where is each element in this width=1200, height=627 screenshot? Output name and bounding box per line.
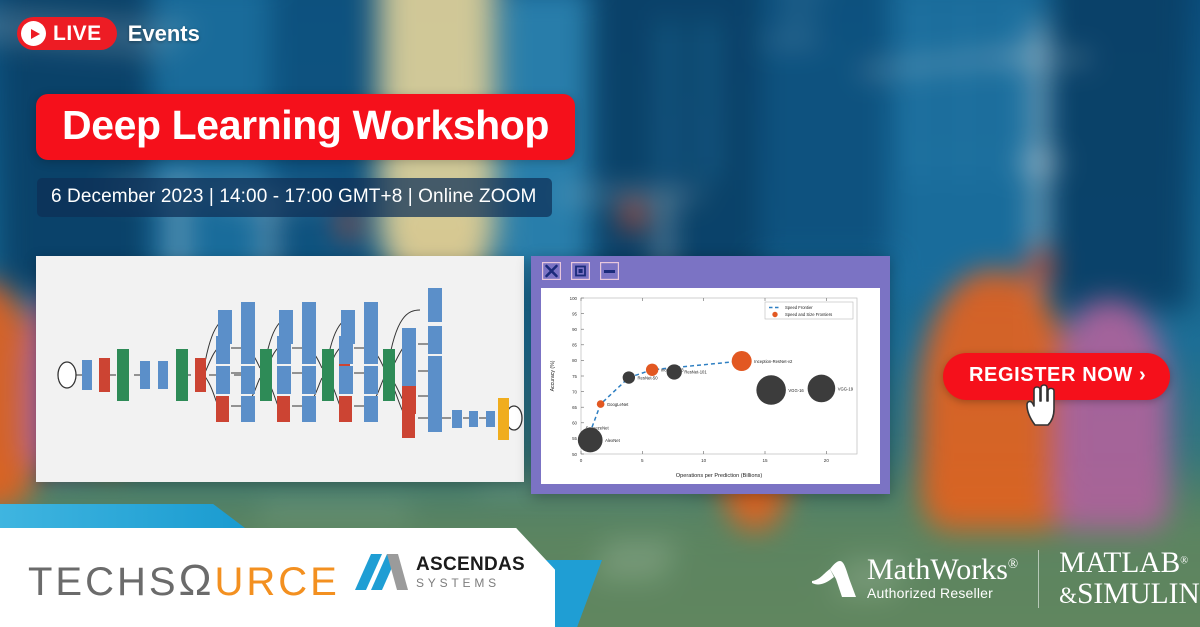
svg-text:95: 95	[572, 311, 577, 316]
svg-text:VGG-16: VGG-16	[788, 388, 804, 393]
accuracy-vs-operations-chart: 50556065707580859095100 05101520 Accurac…	[541, 288, 880, 484]
svg-text:75: 75	[572, 374, 577, 379]
mathworks-reg-icon: ®	[1008, 556, 1018, 571]
events-label: Events	[128, 21, 200, 47]
simulink-line: &SIMULINK®	[1059, 579, 1200, 610]
svg-text:ResNet-101: ResNet-101	[684, 370, 707, 375]
techsource-part2: URCE	[214, 560, 339, 604]
svg-text:Inception-ResNet-v2: Inception-ResNet-v2	[754, 359, 793, 364]
svg-text:90: 90	[572, 327, 577, 332]
network-diagram-svg	[36, 256, 524, 482]
svg-text:VGG-19: VGG-19	[838, 386, 854, 391]
svg-text:5: 5	[641, 458, 644, 463]
svg-text:100: 100	[570, 296, 578, 301]
chart-svg: 50556065707580859095100 05101520 Accurac…	[541, 288, 880, 484]
legend-item-speed-frontier: Speed Frontier	[785, 305, 813, 310]
mathworks-name: MathWorks®	[867, 555, 1018, 585]
mathworks-subtitle: Authorized Reseller	[867, 585, 993, 601]
x-axis-label: Operations per Prediction (Billions)	[676, 473, 763, 479]
minimize-icon[interactable]	[599, 262, 619, 281]
ascendas-subtitle: SYSTEMS	[416, 577, 525, 589]
svg-text:70: 70	[572, 389, 577, 394]
svg-text:AlexNet: AlexNet	[605, 438, 620, 443]
svg-text:80: 80	[572, 358, 577, 363]
matlab-line: MATLAB®	[1059, 548, 1200, 579]
ampersand: &	[1059, 583, 1077, 608]
input-node	[58, 362, 76, 388]
y-axis-label: Accuracy (%)	[550, 360, 556, 391]
mathworks-matlab-logos: MathWorks® Authorized Reseller MATLAB® &…	[810, 548, 1200, 609]
svg-text:GoogLeNet: GoogLeNet	[607, 402, 629, 407]
svg-text:0: 0	[580, 458, 583, 463]
mathworks-mark-icon	[810, 559, 858, 599]
mathworks-logo: MathWorks® Authorized Reseller	[810, 555, 1018, 603]
svg-text:85: 85	[572, 343, 577, 348]
svg-text:20: 20	[824, 458, 830, 463]
live-pill: LIVE	[17, 17, 117, 50]
techsource-logo: TECHSΩURCE	[28, 556, 340, 606]
matlab-reg-icon: ®	[1180, 555, 1188, 566]
techsource-part1: TECHS	[28, 560, 179, 604]
chart-window: 50556065707580859095100 05101520 Accurac…	[531, 256, 890, 494]
live-events-badge: LIVE Events	[17, 17, 200, 50]
deep-network-architecture-diagram	[36, 256, 524, 482]
page-title: Deep Learning Workshop	[36, 94, 575, 160]
play-circle-icon	[21, 21, 46, 46]
register-now-button[interactable]: REGISTER NOW ›	[943, 353, 1170, 400]
svg-text:ResNet-50: ResNet-50	[638, 375, 659, 380]
ascendas-logo: ASCENDAS SYSTEMS	[355, 552, 525, 592]
techsource-omega-icon: Ω	[179, 556, 215, 605]
mathworks-wordmark: MathWorks	[867, 553, 1008, 586]
svg-text:50: 50	[572, 452, 577, 457]
layer-blocks	[82, 288, 509, 440]
matlab-wordmark: MATLAB	[1059, 547, 1180, 579]
svg-text:65: 65	[572, 405, 577, 410]
simulink-wordmark: SIMULINK	[1077, 578, 1200, 610]
logo-divider	[1038, 550, 1039, 608]
close-icon[interactable]	[541, 262, 561, 281]
live-label: LIVE	[53, 22, 102, 46]
svg-text:10: 10	[701, 458, 707, 463]
legend-item-speed-size-frontiers: Speed and Size Frontiers	[785, 312, 832, 317]
maximize-icon[interactable]	[570, 262, 590, 281]
matlab-simulink-logo: MATLAB® &SIMULINK®	[1059, 548, 1200, 609]
ascendas-name: ASCENDAS	[416, 555, 525, 574]
ascendas-mark-icon	[355, 552, 409, 592]
event-promo-poster: WOL PAF & TWIN	[0, 0, 1200, 627]
chart-legend: Speed Frontier Speed and Size Frontiers	[765, 302, 853, 319]
svg-text:60: 60	[572, 421, 577, 426]
page-title-text: Deep Learning Workshop	[62, 105, 549, 146]
event-datetime-text: 6 December 2023 | 14:00 - 17:00 GMT+8 | …	[51, 186, 536, 207]
svg-text:55: 55	[572, 436, 577, 441]
chart-canvas: 50556065707580859095100 05101520 Accurac…	[541, 288, 880, 484]
window-title-bar	[531, 256, 890, 286]
event-datetime-bar: 6 December 2023 | 14:00 - 17:00 GMT+8 | …	[37, 178, 552, 217]
svg-text:15: 15	[762, 458, 768, 463]
footer-blue-stripe	[0, 504, 245, 528]
